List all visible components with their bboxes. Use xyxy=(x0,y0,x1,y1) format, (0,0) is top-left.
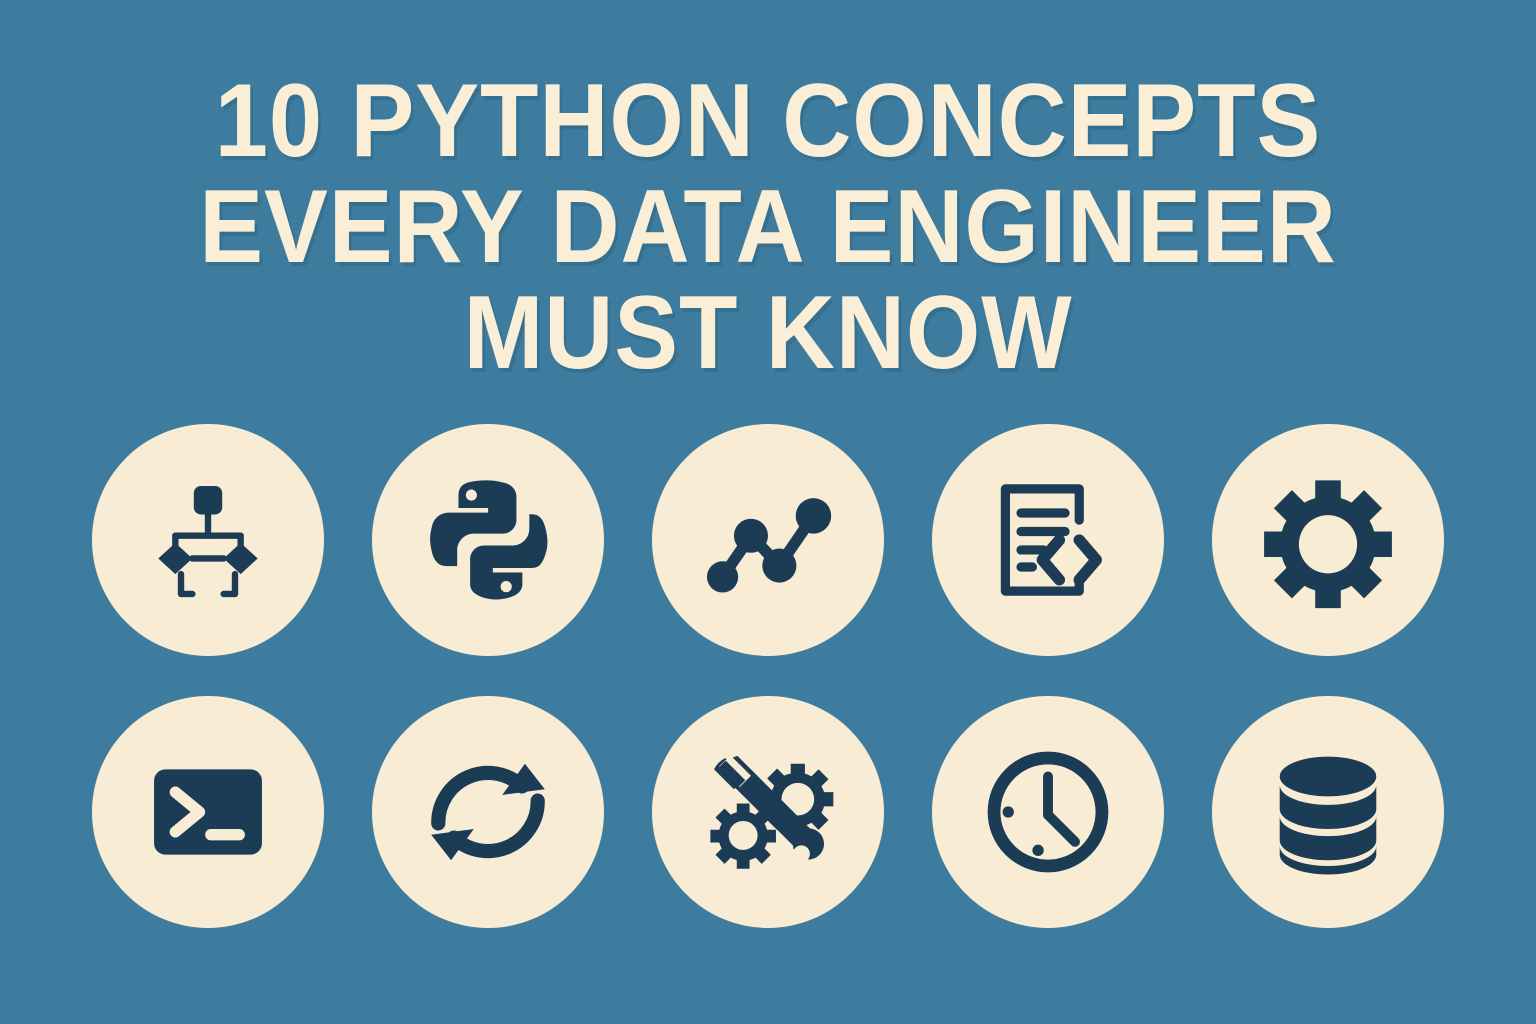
title-line-2: EVERY DATA ENGINEER xyxy=(61,174,1474,280)
clock-icon xyxy=(977,741,1119,883)
icon-row-1 xyxy=(92,424,1444,656)
poster-canvas: 10 PYTHON CONCEPTS EVERY DATA ENGINEER M… xyxy=(0,0,1536,1024)
flowchart-icon xyxy=(137,469,279,611)
icon-circle-terminal xyxy=(92,696,324,928)
python-logo-icon xyxy=(417,469,559,611)
code-document-icon xyxy=(977,469,1119,611)
icon-circle-line-chart xyxy=(652,424,884,656)
wrench-gears-icon xyxy=(697,741,839,883)
icon-circle-tools xyxy=(652,696,884,928)
icon-circle-python xyxy=(372,424,604,656)
title-line-1: 10 PYTHON CONCEPTS xyxy=(61,68,1474,174)
line-chart-icon xyxy=(697,469,839,611)
icon-circle-flowchart xyxy=(92,424,324,656)
database-icon xyxy=(1257,741,1399,883)
terminal-icon xyxy=(137,741,279,883)
icon-circle-gear xyxy=(1212,424,1444,656)
icon-circle-refresh xyxy=(372,696,604,928)
icon-circle-code-document xyxy=(932,424,1164,656)
gear-icon xyxy=(1257,469,1399,611)
refresh-sync-icon xyxy=(417,741,559,883)
page-title: 10 PYTHON CONCEPTS EVERY DATA ENGINEER M… xyxy=(0,68,1536,386)
icon-circle-clock xyxy=(932,696,1164,928)
icon-row-2 xyxy=(92,696,1444,928)
title-line-3: MUST KNOW xyxy=(61,280,1474,386)
icon-circle-database xyxy=(1212,696,1444,928)
icon-grid xyxy=(92,424,1444,928)
